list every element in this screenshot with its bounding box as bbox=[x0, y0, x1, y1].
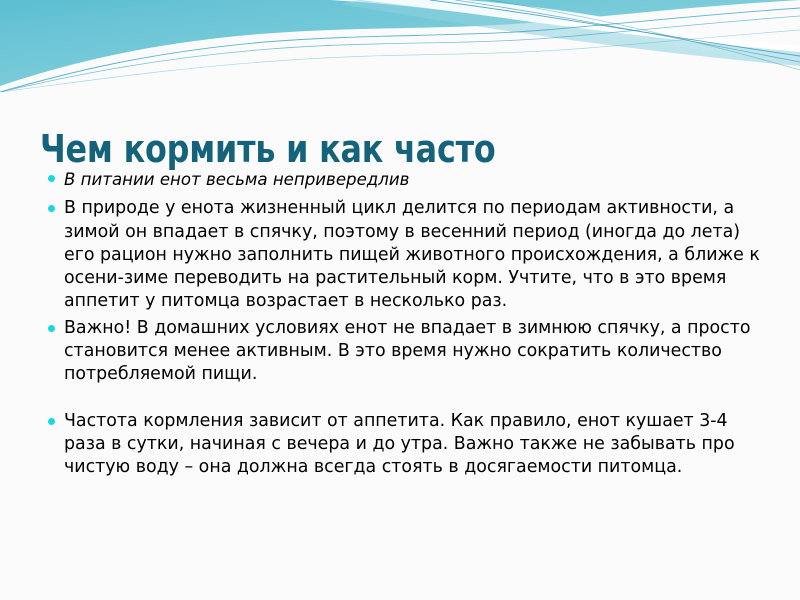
slide-body: В питании енот весьма непривередлив В пр… bbox=[44, 168, 760, 480]
bullet-marker-icon bbox=[48, 418, 55, 425]
presentation-slide: Чем кормить и как часто В питании енот в… bbox=[0, 0, 800, 600]
bullet-marker-icon bbox=[48, 175, 55, 182]
empty-paragraph-spacer bbox=[44, 387, 760, 410]
bullet-text-3: Важно! В домашних условиях енот не впада… bbox=[64, 317, 760, 387]
bullet-text-4: Частота кормления зависит от аппетита. К… bbox=[64, 410, 760, 480]
bullet-item-2: В природе у енота жизненный цикл делится… bbox=[44, 197, 760, 313]
bullet-item-3: Важно! В домашних условиях енот не впада… bbox=[44, 317, 760, 387]
slide-title: Чем кормить и как часто bbox=[40, 127, 710, 171]
bullet-marker-icon bbox=[48, 205, 55, 212]
bullet-text-2: В природе у енота жизненный цикл делится… bbox=[64, 197, 760, 313]
bullet-text-1: В питании енот весьма непривередлив bbox=[64, 168, 760, 191]
bullet-item-1: В питании енот весьма непривередлив bbox=[44, 168, 760, 191]
decorative-wave-banner bbox=[0, 0, 800, 92]
bullet-marker-icon bbox=[48, 325, 55, 332]
bullet-item-4: Частота кормления зависит от аппетита. К… bbox=[44, 410, 760, 480]
